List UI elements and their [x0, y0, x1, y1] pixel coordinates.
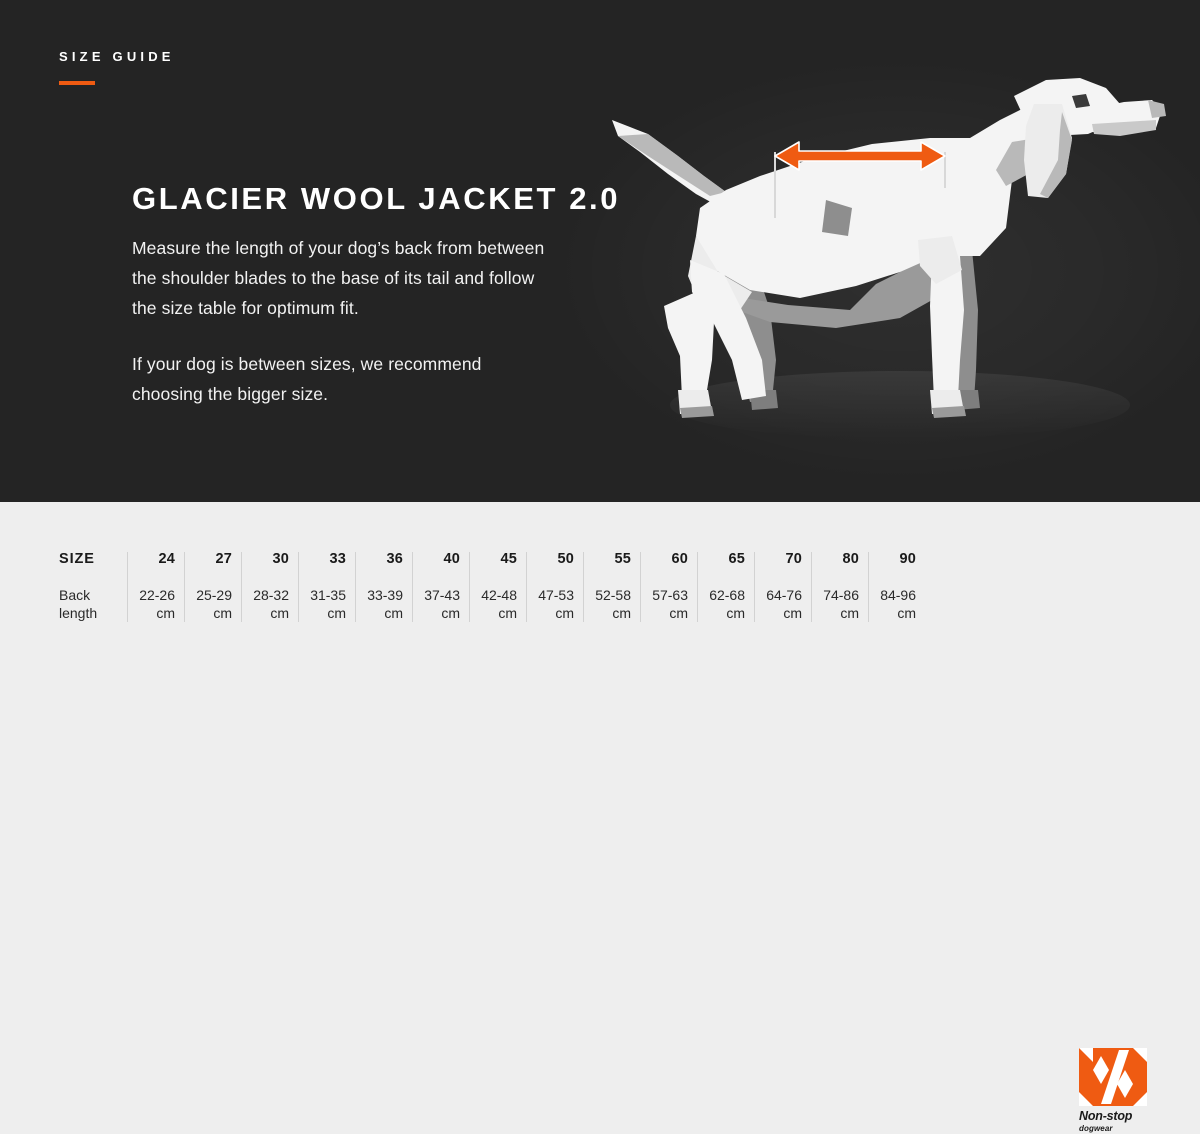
size-value: 36 — [360, 552, 403, 568]
dog-near-hind-paw-shadow — [680, 406, 714, 418]
dog-tail-shadow — [618, 134, 726, 196]
back-length-value: 47-53 cm — [531, 586, 574, 622]
back-length-unit: cm — [474, 604, 517, 622]
back-length-range: 52-58 — [595, 587, 631, 603]
size-column-70[interactable]: 70 64-76 cm — [754, 552, 811, 622]
back-length-unit: cm — [189, 604, 232, 622]
back-length-range: 74-86 — [823, 587, 859, 603]
back-length-unit: cm — [816, 604, 859, 622]
back-length-range: 22-26 — [139, 587, 175, 603]
size-column-90[interactable]: 90 84-96 cm — [868, 552, 925, 622]
back-length-value: 52-58 cm — [588, 586, 631, 622]
back-length-unit: cm — [417, 604, 460, 622]
back-length-value: 22-26 cm — [132, 586, 175, 622]
back-length-unit: cm — [246, 604, 289, 622]
size-table: SIZE Back length 24 22-26 cm 27 25-29 cm — [59, 552, 925, 622]
size-value: 33 — [303, 552, 346, 568]
back-length-unit: cm — [360, 604, 403, 622]
back-length-unit: cm — [303, 604, 346, 622]
page-title: GLACIER WOOL JACKET 2.0 — [132, 182, 620, 216]
accent-rule — [59, 81, 95, 85]
back-length-unit: cm — [645, 604, 688, 622]
eyebrow-label: SIZE GUIDE — [59, 50, 175, 63]
back-length-range: 33-39 — [367, 587, 403, 603]
back-length-value: 74-86 cm — [816, 586, 859, 622]
size-value: 24 — [132, 552, 175, 568]
size-value: 30 — [246, 552, 289, 568]
back-length-range: 47-53 — [538, 587, 574, 603]
back-length-unit: cm — [588, 604, 631, 622]
back-length-unit: cm — [873, 604, 916, 622]
back-length-value: 31-35 cm — [303, 586, 346, 622]
size-column-55[interactable]: 55 52-58 cm — [583, 552, 640, 622]
size-value: 70 — [759, 552, 802, 568]
table-row-labels: SIZE Back length — [59, 552, 127, 622]
brand-logo[interactable]: Non-stop dogwear — [1079, 1048, 1149, 1134]
size-column-30[interactable]: 30 28-32 cm — [241, 552, 298, 622]
size-column-50[interactable]: 50 47-53 cm — [526, 552, 583, 622]
logo-wordmark: Non-stop — [1079, 1110, 1149, 1123]
size-value: 45 — [474, 552, 517, 568]
size-value: 55 — [588, 552, 631, 568]
back-length-unit: cm — [132, 604, 175, 622]
back-length-range: 28-32 — [253, 587, 289, 603]
size-table-panel: SIZE Back length 24 22-26 cm 27 25-29 cm — [0, 502, 1200, 675]
size-column-24[interactable]: 24 22-26 cm — [127, 552, 184, 622]
back-length-line-2: length — [59, 604, 119, 622]
table-row-label-back-length: Back length — [59, 586, 119, 622]
size-column-45[interactable]: 45 42-48 cm — [469, 552, 526, 622]
size-value: 80 — [816, 552, 859, 568]
back-length-range: 57-63 — [652, 587, 688, 603]
back-length-line-1: Back — [59, 587, 90, 603]
logo-tagline: dogwear — [1079, 1124, 1149, 1134]
dog-illustration — [600, 60, 1200, 460]
size-value: 90 — [873, 552, 916, 568]
back-length-value: 64-76 cm — [759, 586, 802, 622]
size-column-40[interactable]: 40 37-43 cm — [412, 552, 469, 622]
back-length-unit: cm — [702, 604, 745, 622]
table-header-size: SIZE — [59, 552, 119, 568]
size-column-27[interactable]: 27 25-29 cm — [184, 552, 241, 622]
back-length-range: 64-76 — [766, 587, 802, 603]
back-length-value: 28-32 cm — [246, 586, 289, 622]
size-value: 65 — [702, 552, 745, 568]
back-length-range: 31-35 — [310, 587, 346, 603]
size-value: 60 — [645, 552, 688, 568]
back-length-range: 42-48 — [481, 587, 517, 603]
back-length-value: 37-43 cm — [417, 586, 460, 622]
description-paragraph-1: Measure the length of your dog’s back fr… — [132, 233, 552, 323]
size-guide-page: SIZE GUIDE GLACIER WOOL JACKET 2.0 Measu… — [0, 0, 1200, 675]
back-length-range: 62-68 — [709, 587, 745, 603]
back-length-range: 37-43 — [424, 587, 460, 603]
size-value: 50 — [531, 552, 574, 568]
back-length-value: 62-68 cm — [702, 586, 745, 622]
back-length-value: 42-48 cm — [474, 586, 517, 622]
dog-near-front-paw-shadow — [932, 406, 966, 418]
back-length-range: 84-96 — [880, 587, 916, 603]
size-column-60[interactable]: 60 57-63 cm — [640, 552, 697, 622]
size-value: 27 — [189, 552, 232, 568]
eyebrow-block: SIZE GUIDE — [59, 50, 175, 85]
back-length-value: 84-96 cm — [873, 586, 916, 622]
size-column-33[interactable]: 33 31-35 cm — [298, 552, 355, 622]
description-block: Measure the length of your dog’s back fr… — [132, 233, 552, 409]
back-length-unit: cm — [759, 604, 802, 622]
description-paragraph-2: If your dog is between sizes, we recomme… — [132, 349, 552, 409]
size-column-80[interactable]: 80 74-86 cm — [811, 552, 868, 622]
size-column-65[interactable]: 65 62-68 cm — [697, 552, 754, 622]
back-length-value: 57-63 cm — [645, 586, 688, 622]
non-stop-logo-icon — [1079, 1048, 1147, 1106]
back-length-unit: cm — [531, 604, 574, 622]
size-value: 40 — [417, 552, 460, 568]
size-column-36[interactable]: 36 33-39 cm — [355, 552, 412, 622]
back-length-value: 33-39 cm — [360, 586, 403, 622]
hero-panel: SIZE GUIDE GLACIER WOOL JACKET 2.0 Measu… — [0, 0, 1200, 502]
back-length-value: 25-29 cm — [189, 586, 232, 622]
back-length-range: 25-29 — [196, 587, 232, 603]
